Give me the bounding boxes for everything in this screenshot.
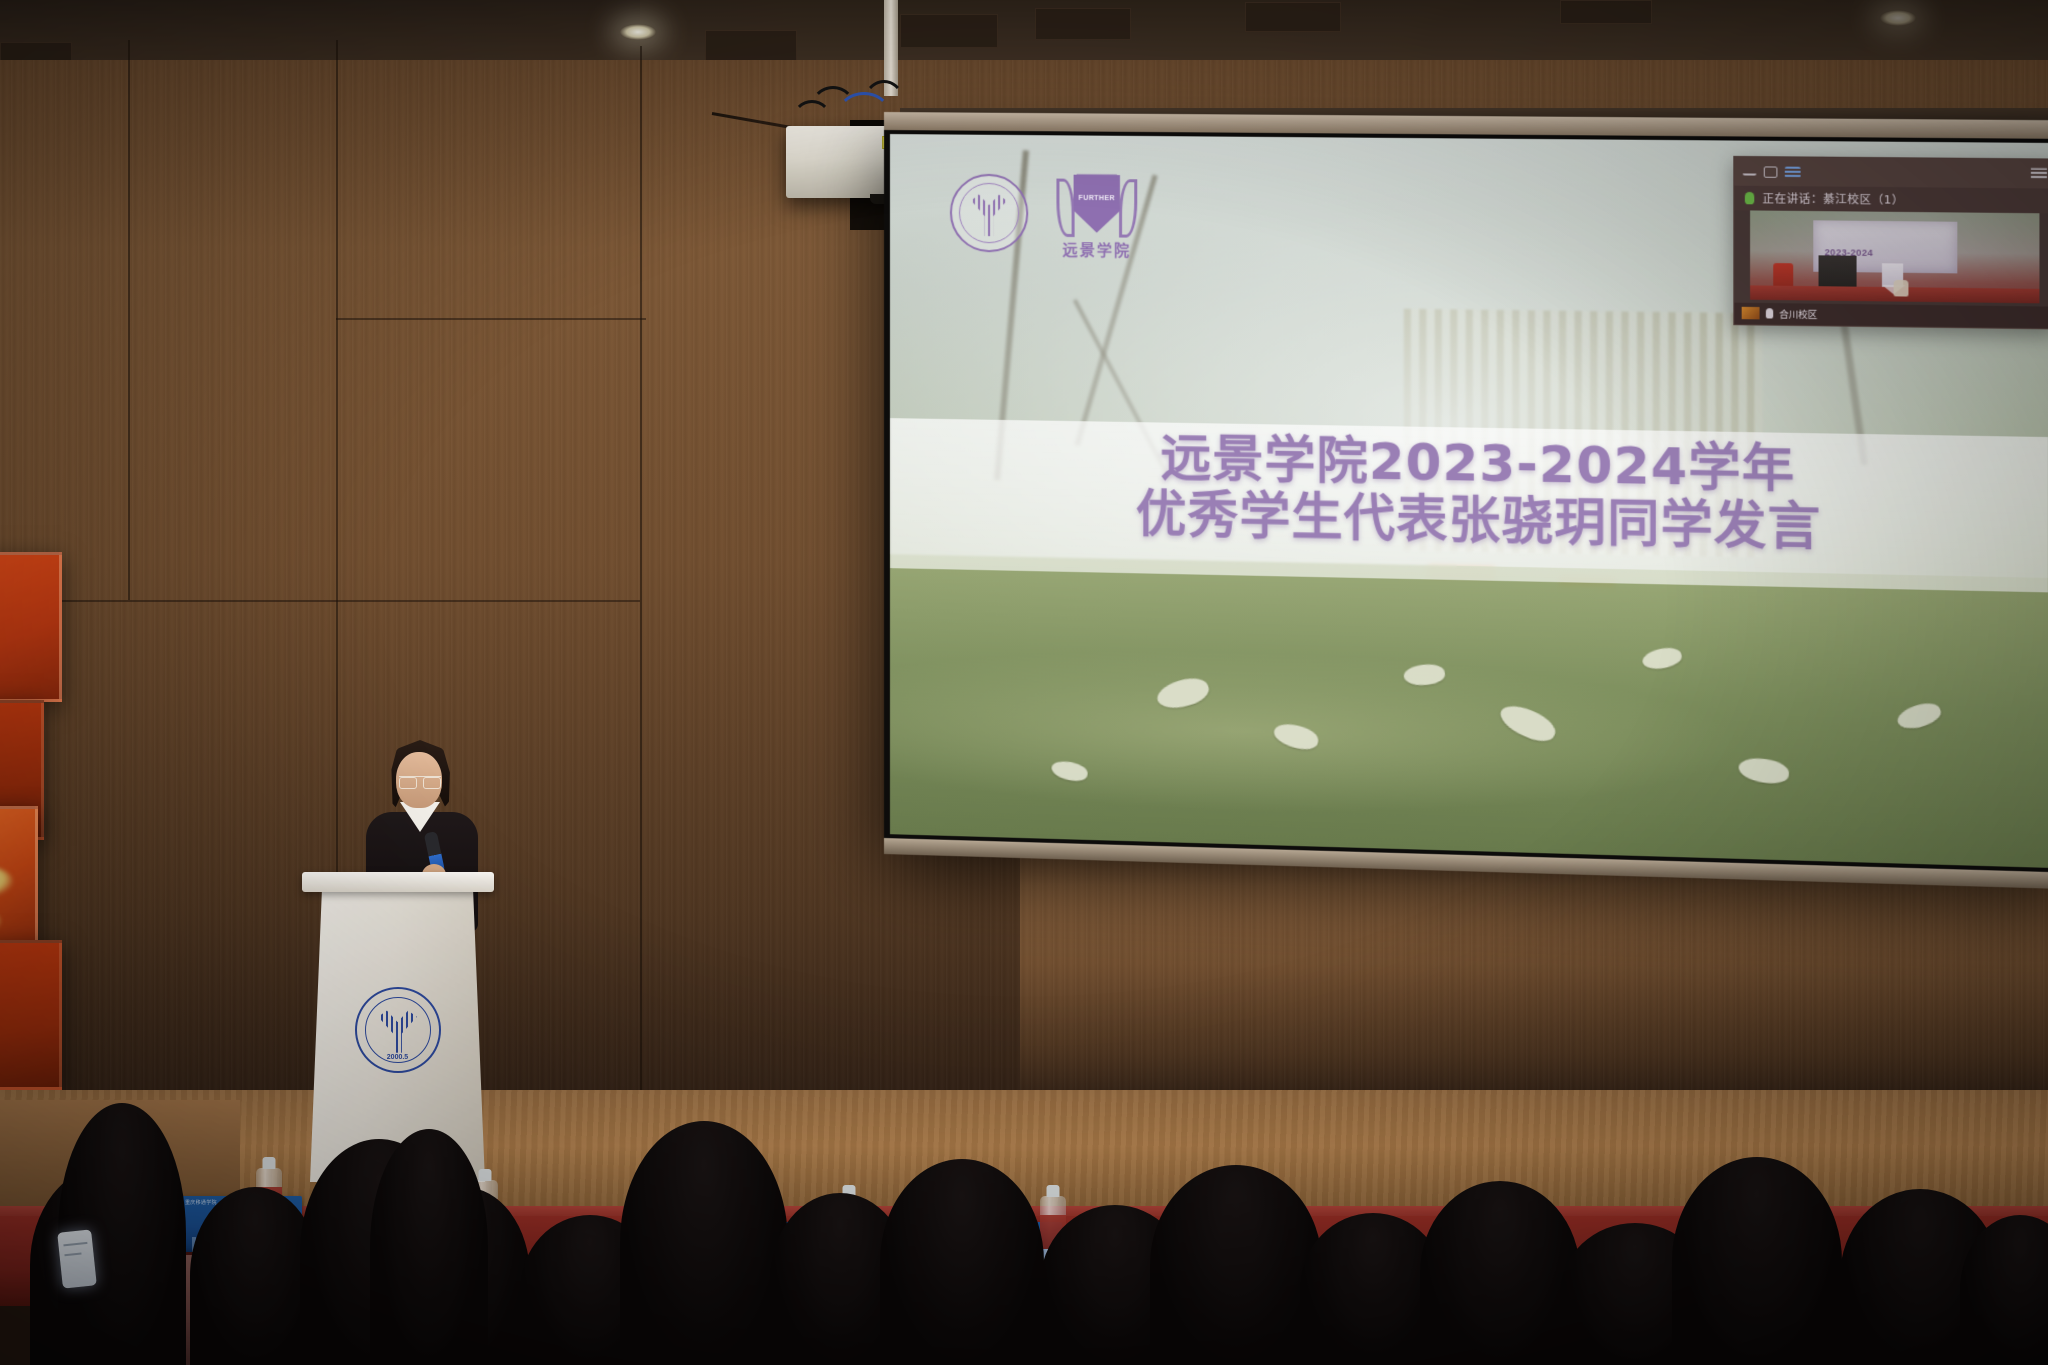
podium-top-surface bbox=[302, 872, 494, 892]
mouse-cursor-icon bbox=[1894, 280, 1909, 297]
audience-member-front-row bbox=[370, 1129, 488, 1365]
vc-footer-bar: 合川校区 bbox=[1734, 302, 2048, 328]
ceiling-vent bbox=[1560, 0, 1652, 24]
art-blob bbox=[0, 909, 1, 935]
vc-speaking-label: 正在讲话：綦江校区（1） bbox=[1762, 190, 1904, 208]
glasses-icon bbox=[399, 776, 441, 787]
photo-mossy-ground bbox=[890, 554, 2048, 869]
hamburger-icon[interactable] bbox=[2031, 168, 2047, 180]
microphone-icon[interactable] bbox=[1766, 308, 1773, 318]
shield-icon: FURTHER bbox=[1073, 174, 1119, 233]
nameplate-org: 重庆移通学院 bbox=[185, 1199, 217, 1206]
audience-member bbox=[620, 1121, 788, 1365]
ceiling-vent bbox=[900, 14, 998, 48]
seal-mark-icon bbox=[968, 192, 1010, 237]
projection-screen: FURTHER 远景学院 远景学院2023-2024学年 优秀学生代表张骁玥同学… bbox=[884, 128, 2048, 875]
podium-emblem-year: 2000.5 bbox=[387, 1054, 408, 1061]
wall-art-panel bbox=[0, 940, 62, 1090]
wall-panel-seam bbox=[336, 318, 646, 320]
video-conference-window[interactable]: 正在讲话：綦江校区（1） 2023-2024 bbox=[1733, 156, 2048, 329]
audience-member bbox=[880, 1159, 1044, 1365]
ceiling-downlight bbox=[620, 24, 656, 40]
audience-member bbox=[1420, 1181, 1580, 1365]
college-crest-logo: FURTHER 远景学院 bbox=[1054, 174, 1139, 260]
slide-logo-row: FURTHER 远景学院 bbox=[950, 173, 1139, 260]
podium-emblem-mark-icon bbox=[376, 1009, 420, 1053]
audience-member bbox=[1672, 1157, 1842, 1365]
wall-art-panel bbox=[0, 552, 62, 702]
vc-footer-label: 合川校区 bbox=[1779, 307, 1817, 321]
slide-title: 远景学院2023-2024学年 优秀学生代表张骁玥同学发言 bbox=[890, 425, 2048, 561]
laurel-icon bbox=[1056, 178, 1074, 237]
ceiling-vent bbox=[1245, 2, 1341, 32]
podium: 2000.5 bbox=[310, 882, 485, 1182]
wall-panel-seam bbox=[640, 46, 642, 1106]
vc-remote-video-feed[interactable]: 2023-2024 bbox=[1750, 211, 2039, 303]
crest-further-label: FURTHER bbox=[1078, 194, 1115, 201]
crest-college-name: 远景学院 bbox=[1054, 238, 1139, 260]
layout-icon[interactable] bbox=[1784, 166, 1800, 177]
vc-thumbnail[interactable] bbox=[1741, 307, 1759, 320]
wall-art-panel bbox=[0, 806, 38, 948]
mic-active-icon bbox=[1745, 192, 1754, 204]
restore-icon[interactable] bbox=[1763, 166, 1777, 177]
podium-emblem: 2000.5 bbox=[355, 987, 441, 1073]
ceiling-vent bbox=[1035, 8, 1131, 40]
auditorium-scene: FURTHER 远景学院 远景学院2023-2024学年 优秀学生代表张骁玥同学… bbox=[0, 0, 2048, 1365]
audience-phone-screen bbox=[57, 1229, 97, 1288]
screen-surface: FURTHER 远景学院 远景学院2023-2024学年 优秀学生代表张骁玥同学… bbox=[890, 134, 2048, 869]
ceiling-downlight bbox=[1880, 10, 1916, 26]
audience-member bbox=[1150, 1165, 1322, 1365]
wall-panel-seam bbox=[0, 600, 640, 602]
vc-titlebar[interactable] bbox=[1734, 157, 2048, 188]
wall-panel-seam bbox=[128, 40, 130, 600]
art-blob bbox=[0, 867, 13, 897]
minimize-icon[interactable] bbox=[1742, 168, 1756, 175]
university-seal-logo bbox=[950, 173, 1028, 252]
laurel-icon bbox=[1119, 179, 1137, 238]
vc-speaking-bar: 正在讲话：綦江校区（1） bbox=[1734, 186, 2048, 214]
